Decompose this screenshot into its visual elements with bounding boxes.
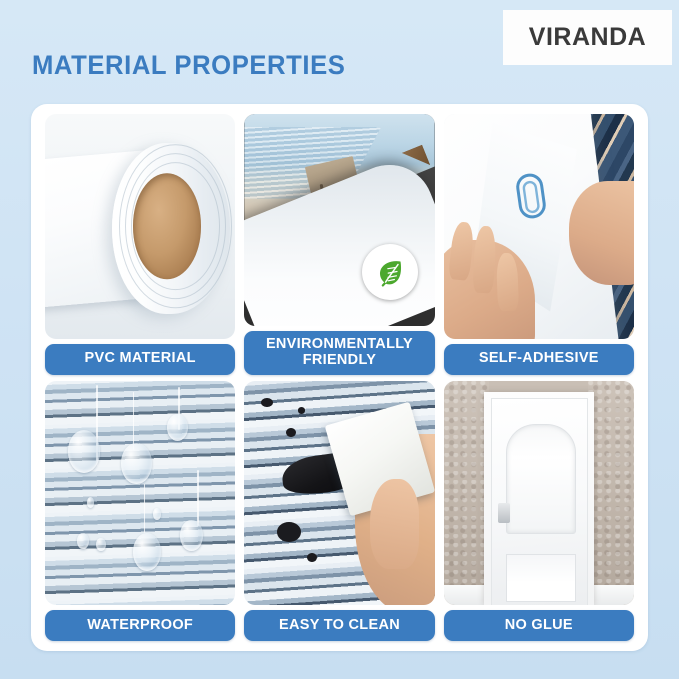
ink-spot-6: [307, 553, 317, 562]
water-drop-1: [68, 430, 100, 473]
eco-peel-image: [244, 114, 434, 326]
ink-spot-5: [277, 522, 302, 542]
door-panel-top: [506, 424, 577, 533]
wall-left: [444, 381, 490, 606]
pvc-roll-image: [45, 114, 235, 339]
feature-label-environmentally-friendly: ENVIRONMENTALLY FRIENDLY: [244, 331, 434, 375]
feature-card-easy-to-clean[interactable]: EASY TO CLEAN: [244, 381, 434, 642]
features-panel: PVC MATERIAL: [31, 104, 648, 651]
wall-right: [588, 381, 634, 606]
feature-card-environmentally-friendly[interactable]: ENVIRONMENTALLY FRIENDLY: [244, 114, 434, 375]
feature-label-no-glue: NO GLUE: [444, 610, 634, 641]
water-drop-5: [180, 520, 203, 551]
feature-card-no-glue[interactable]: NO GLUE: [444, 381, 634, 642]
ink-spot-3: [286, 428, 296, 437]
self-adhesive-image: [444, 114, 634, 339]
feature-card-pvc-material[interactable]: PVC MATERIAL: [45, 114, 235, 375]
waterproof-image: [45, 381, 235, 606]
brand-name: VIRANDA: [529, 23, 646, 52]
page-title: MATERIAL PROPERTIES: [32, 50, 345, 81]
paperclip-icon: [513, 171, 549, 223]
brand-logo-box: VIRANDA: [503, 10, 672, 65]
no-glue-image: [444, 381, 634, 606]
drop-trail-4: [144, 484, 146, 533]
leaf-icon: [373, 255, 407, 289]
hand-thumb: [370, 479, 419, 569]
feature-card-waterproof[interactable]: WATERPROOF: [45, 381, 235, 642]
feature-label-easy-to-clean: EASY TO CLEAN: [244, 610, 434, 641]
pvc-cardboard-core: [133, 174, 202, 280]
drop-trail-5: [197, 470, 199, 526]
door-handle: [498, 503, 510, 524]
features-grid: PVC MATERIAL: [45, 114, 634, 641]
drop-trail-2: [133, 392, 135, 450]
feature-label-waterproof: WATERPROOF: [45, 610, 235, 641]
door-panel-bottom: [506, 554, 577, 601]
water-drop-2: [121, 443, 151, 483]
ink-spot-2: [298, 407, 306, 414]
right-hand: [569, 181, 634, 284]
water-drop-9: [153, 508, 161, 519]
feature-label-pvc-material: PVC MATERIAL: [45, 344, 235, 375]
easy-to-clean-image: [244, 381, 434, 606]
feature-label-self-adhesive: SELF-ADHESIVE: [444, 344, 634, 375]
water-drop-6: [77, 533, 88, 549]
water-drop-8: [87, 497, 95, 508]
water-drop-3: [167, 414, 188, 441]
door-leaf: [491, 398, 588, 605]
ink-spot-1: [261, 398, 272, 407]
infographic-page: MATERIAL PROPERTIES VIRANDA PVC MATERIAL: [0, 0, 679, 679]
feature-card-self-adhesive[interactable]: SELF-ADHESIVE: [444, 114, 634, 375]
eco-badge: [362, 244, 418, 300]
water-drop-4: [133, 533, 162, 571]
water-drop-7: [96, 538, 106, 551]
